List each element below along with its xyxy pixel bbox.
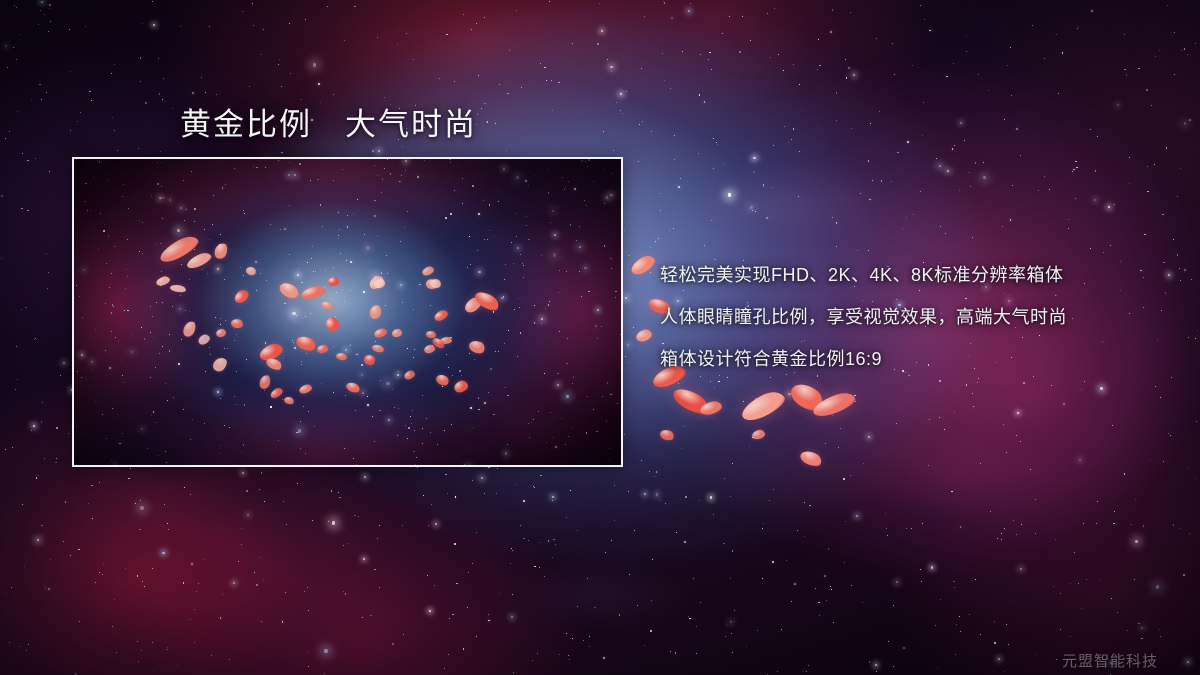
- photo-inner: [74, 159, 621, 465]
- page-title: 黄金比例 大气时尚: [180, 99, 477, 144]
- framed-image: [72, 157, 623, 467]
- petal: [635, 328, 654, 343]
- petal: [659, 428, 676, 442]
- petal: [628, 252, 658, 277]
- petal: [751, 429, 766, 441]
- body-text-block: 轻松完美实现FHD、2K、4K、8K标准分辨率箱体 人体眼睛瞳孔比例，享受视觉效…: [660, 254, 1180, 380]
- body-line-3: 箱体设计符合黄金比例16:9: [660, 338, 1180, 380]
- body-line-1: 轻松完美实现FHD、2K、4K、8K标准分辨率箱体: [660, 254, 1180, 296]
- watermark: 元盟智能科技: [1062, 650, 1158, 671]
- presentation-slide: 黄金比例 大气时尚 轻松完美实现FHD、2K、4K、8K标准分辨率箱体 人体眼睛…: [0, 0, 1200, 675]
- petal: [738, 387, 788, 425]
- petal: [798, 448, 823, 469]
- body-line-2: 人体眼睛瞳孔比例，享受视觉效果，高端大气时尚: [660, 296, 1180, 338]
- photo-vignette: [74, 159, 621, 465]
